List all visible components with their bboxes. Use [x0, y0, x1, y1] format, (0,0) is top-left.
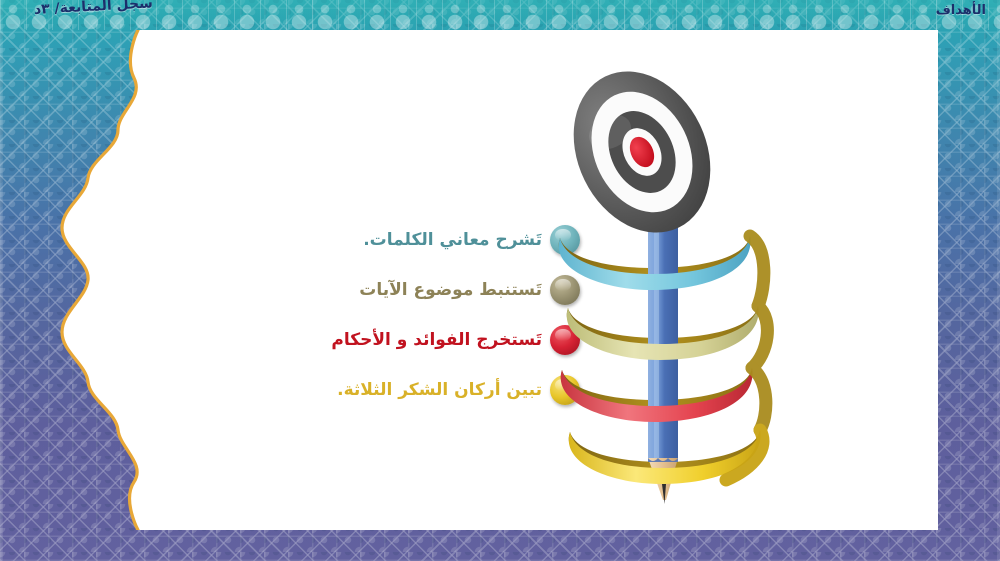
objective-item-1: تَشرح معاني الكلمات. [300, 215, 580, 265]
slide-root: الأهداف سجل المتابعة/ ٣د تَشرح معاني الك… [0, 0, 1000, 561]
objective-item-2: تَستنبط موضوع الآيات [300, 265, 580, 315]
objectives-list: تَشرح معاني الكلمات. تَستنبط موضوع الآيا… [300, 215, 580, 415]
objective-text-2: تَستنبط موضوع الآيات [300, 280, 542, 300]
target-dartboard [548, 70, 737, 256]
target-pencil-ribbons-illustration [540, 70, 800, 510]
ribbon-connectors [726, 236, 767, 480]
objective-text-1: تَشرح معاني الكلمات. [300, 230, 542, 250]
objective-item-4: تبين أركان الشكر الثلاثة. [300, 365, 580, 415]
objective-text-4: تبين أركان الشكر الثلاثة. [300, 380, 542, 400]
page-title-objectives: الأهداف [936, 3, 986, 18]
objective-item-3: تَستخرج الفوائد و الأحكام [300, 315, 580, 365]
objective-text-3: تَستخرج الفوائد و الأحكام [300, 330, 542, 350]
